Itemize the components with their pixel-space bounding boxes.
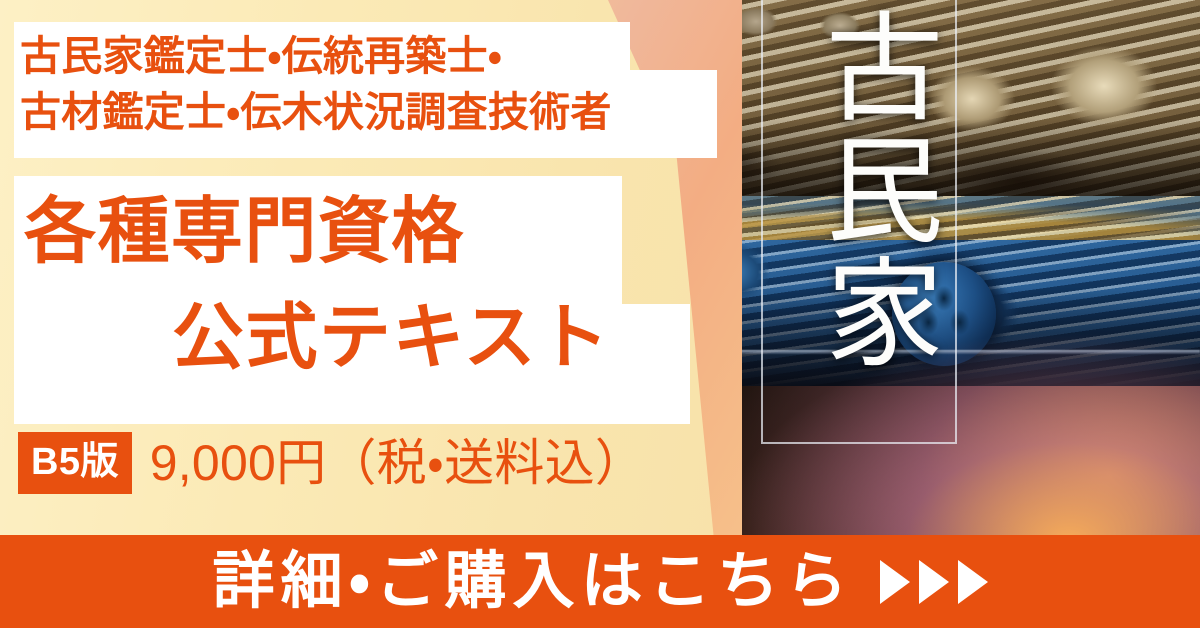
play-arrow-icon xyxy=(958,560,988,604)
book-cover-title: 古民家 xyxy=(772,6,942,374)
play-arrow-icon xyxy=(880,560,910,604)
price-row: B5版 9,000円（税・送料込） xyxy=(18,432,645,494)
qualification-line-1: 古民家鑑定士・伝統再築士・ xyxy=(20,36,502,77)
promotional-banner: 古民家 伝統構法 古民家活用のための調査と再生の 古民家鑑定士・伝統再築士・ 古… xyxy=(0,0,1200,628)
cta-arrow-group xyxy=(880,560,988,604)
cta-bar[interactable]: 詳細・ご購入はこちら xyxy=(0,535,1200,628)
price-amount: 9,000円（税・送料込） xyxy=(150,438,645,488)
qualification-line-2: 古材鑑定士・伝木状況調査技術者 xyxy=(20,92,612,133)
cta-label: 詳細・ご購入はこちら xyxy=(212,551,853,613)
headline-line-2: 公式テキスト xyxy=(172,302,610,374)
play-arrow-icon xyxy=(919,560,949,604)
size-badge: B5版 xyxy=(18,432,132,494)
headline-line-1: 各種専門資格 xyxy=(24,196,465,268)
